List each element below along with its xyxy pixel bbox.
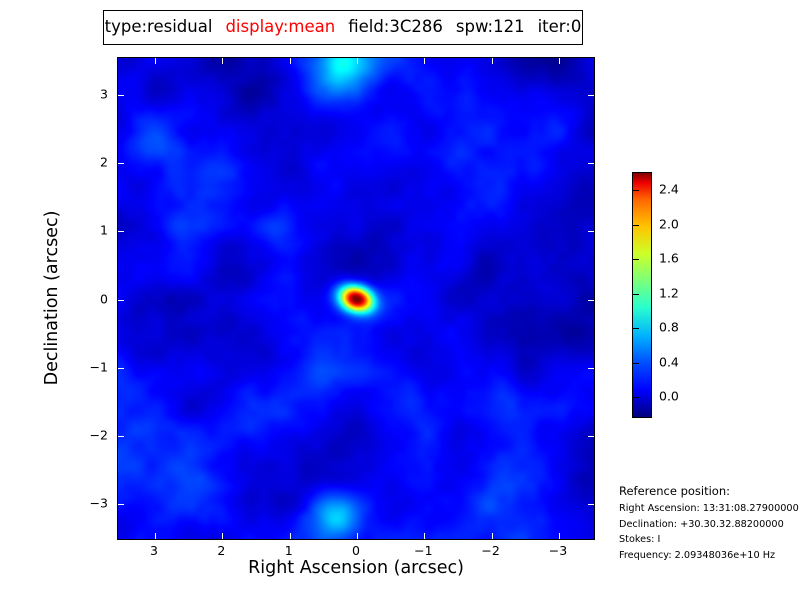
x-tick-mark (155, 533, 156, 539)
colorbar-tick-mark (633, 259, 639, 260)
y-tick-mark (588, 95, 594, 96)
y-tick-mark (118, 436, 124, 437)
colorbar-tick-mark (633, 225, 639, 226)
x-tick-mark (492, 533, 493, 539)
image-parameter-header: type:residual display:mean field:3C286 s… (103, 10, 583, 45)
x-tick-label: −1 (414, 543, 432, 558)
y-tick-mark (588, 231, 594, 232)
colorbar-tick-mark (633, 294, 639, 295)
x-tick-mark (424, 533, 425, 539)
x-tick-label: 0 (352, 543, 360, 558)
colorbar-tick-mark (633, 397, 639, 398)
x-tick-mark (357, 58, 358, 64)
residual-image-plot (117, 57, 595, 540)
y-tick-mark (588, 368, 594, 369)
x-tick-mark (357, 533, 358, 539)
y-tick-mark (118, 504, 124, 505)
x-tick-label: 3 (150, 543, 158, 558)
y-tick-label: 0 (80, 291, 108, 306)
colorbar-tick-label: 2.0 (659, 216, 679, 231)
colorbar-tick-label: 0.4 (659, 354, 679, 369)
y-tick-mark (588, 504, 594, 505)
y-tick-label: 3 (80, 87, 108, 102)
y-tick-mark (118, 368, 124, 369)
colorbar-tick-mark (633, 363, 639, 364)
reference-position-title: Reference position: (619, 484, 799, 498)
colorbar-tick-label: 1.6 (659, 251, 679, 266)
header-item-type: type:residual (105, 19, 213, 36)
header-item-spw: spw:121 (456, 19, 525, 36)
colorbar-tick-label: 2.4 (659, 182, 679, 197)
y-axis-label: Declination (arcsec) (42, 211, 62, 386)
y-tick-label: −3 (80, 495, 108, 510)
x-tick-label: 2 (217, 543, 225, 558)
x-tick-mark (290, 58, 291, 64)
x-tick-mark (222, 533, 223, 539)
colorbar-tick-mark (633, 190, 639, 191)
y-tick-label: 2 (80, 155, 108, 170)
x-tick-label: 1 (285, 543, 293, 558)
colorbar-tick-mark (633, 328, 639, 329)
y-tick-label: 1 (80, 223, 108, 238)
y-tick-mark (118, 300, 124, 301)
y-tick-label: −1 (80, 359, 108, 374)
header-item-field: field:3C286 (348, 19, 443, 36)
x-tick-mark (559, 58, 560, 64)
residual-heatmap-canvas (118, 58, 594, 539)
x-tick-mark (155, 58, 156, 64)
x-tick-mark (222, 58, 223, 64)
reference-position-stokes: Stokes: I (619, 534, 799, 545)
y-tick-label: −2 (80, 427, 108, 442)
x-tick-mark (492, 58, 493, 64)
y-tick-mark (588, 163, 594, 164)
y-tick-mark (588, 436, 594, 437)
y-tick-mark (118, 95, 124, 96)
x-axis-label: Right Ascension (arcsec) (117, 558, 595, 578)
header-item-iter: iter:0 (538, 19, 582, 36)
reference-position-frequency: Frequency: 2.09348036e+10 Hz (619, 550, 799, 561)
y-tick-mark (118, 231, 124, 232)
reference-position-block: Reference position: Right Ascension: 13:… (619, 484, 799, 565)
x-tick-mark (424, 58, 425, 64)
reference-position-dec: Declination: +30.30.32.88200000 (619, 519, 799, 530)
colorbar-tick-label: 1.2 (659, 285, 679, 300)
reference-position-ra: Right Ascension: 13:31:08.27900000 (619, 503, 799, 514)
x-tick-label: −3 (549, 543, 567, 558)
x-tick-label: −2 (481, 543, 499, 558)
colorbar-tick-label: 0.8 (659, 320, 679, 335)
colorbar-tick-label: 0.0 (659, 389, 679, 404)
header-item-display: display:mean (225, 19, 335, 36)
x-tick-mark (290, 533, 291, 539)
x-tick-mark (559, 533, 560, 539)
y-tick-mark (588, 300, 594, 301)
colorbar (632, 172, 652, 418)
y-tick-mark (118, 163, 124, 164)
